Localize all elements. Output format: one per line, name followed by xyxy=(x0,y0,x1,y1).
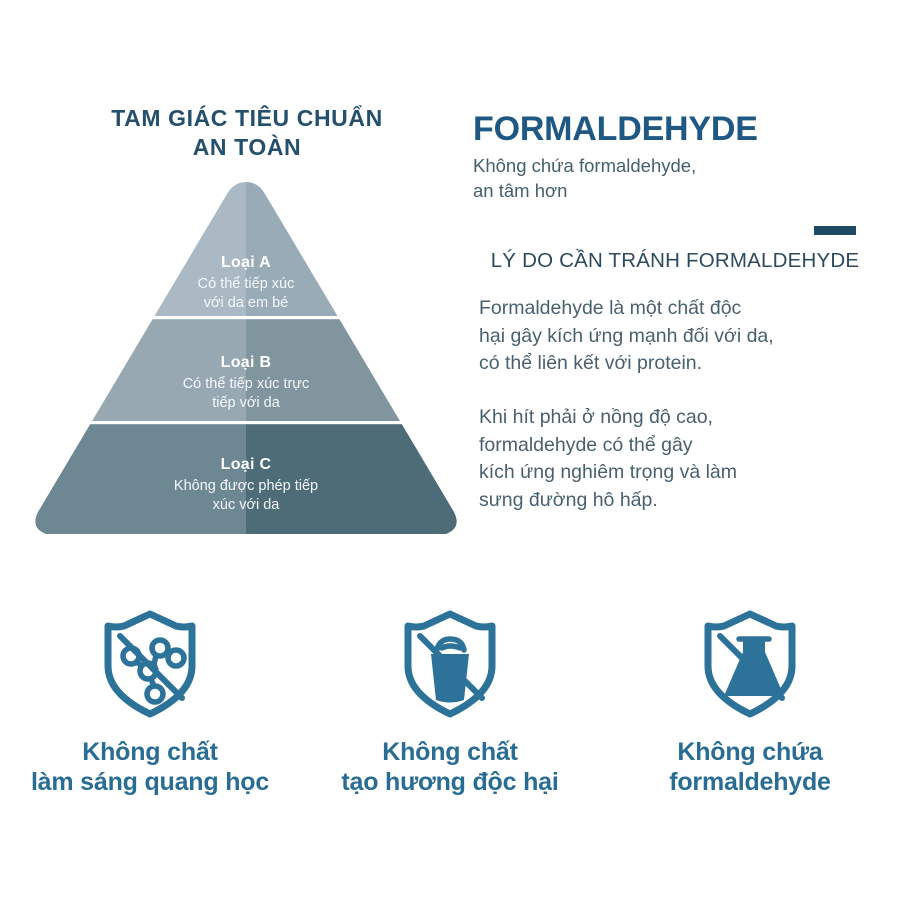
page-title: TAM GIÁC TIÊU CHUẨN AN TOÀN xyxy=(20,104,460,162)
reason-paragraph-1-line-3: có thể liên kết với protein. xyxy=(479,352,702,374)
reason-paragraph-2: Khi hít phải ở nồng độ cao, formaldehyde… xyxy=(473,404,883,515)
formaldehyde-info-panel: FORMALDEHYDE Không chứa formaldehyde, an… xyxy=(473,112,883,515)
reason-heading: LÝ DO CẦN TRÁNH FORMALDEHYDE xyxy=(473,249,883,273)
tier-c-left-face xyxy=(26,424,246,546)
page-title-line-2: AN TOÀN xyxy=(34,133,460,162)
reason-paragraph-2-line-1: Khi hít phải ở nồng độ cao, xyxy=(479,406,713,428)
feature-no-formaldehyde: Không chứa formaldehyde xyxy=(600,608,900,797)
tier-c-right-face xyxy=(246,424,466,546)
reason-paragraph-1-line-1: Formaldehyde là một chất độc xyxy=(479,297,741,319)
feature-2-label-line-1: Không chất xyxy=(341,738,558,768)
feature-1-label-line-2: làm sáng quang học xyxy=(31,768,269,798)
brand-subheading-line-2: an tâm hơn xyxy=(473,180,567,201)
feature-no-formaldehyde-label: Không chứa formaldehyde xyxy=(669,738,831,797)
shield-flask-slash-icon xyxy=(698,608,802,720)
pyramid-svg xyxy=(26,176,466,546)
safety-pyramid-panel: TAM GIÁC TIÊU CHUẨN AN TOÀN xyxy=(20,104,460,546)
reason-paragraph-2-line-2: formaldehyde có thể gây xyxy=(479,434,693,456)
pyramid-tiers xyxy=(26,176,466,546)
feature-no-optical-brightener: Không chất làm sáng quang học xyxy=(0,608,300,797)
feature-no-toxic-fragrance-label: Không chất tạo hương độc hại xyxy=(341,738,558,797)
feature-no-toxic-fragrance: Không chất tạo hương độc hại xyxy=(300,608,600,797)
brand-heading: FORMALDEHYDE xyxy=(473,112,883,146)
feature-3-label-line-2: formaldehyde xyxy=(669,768,831,798)
divider-row xyxy=(473,226,883,235)
reason-paragraph-2-line-4: sưng đường hô hấp. xyxy=(479,489,658,511)
feature-row: Không chất làm sáng quang học Không chất… xyxy=(0,608,900,848)
page-title-line-1: TAM GIÁC TIÊU CHUẨN xyxy=(34,104,460,133)
reason-paragraph-1: Formaldehyde là một chất độc hại gây kíc… xyxy=(473,295,883,378)
shield-bucket-slash-icon xyxy=(398,608,502,720)
tier-divider-ab xyxy=(26,316,466,319)
brand-subheading: Không chứa formaldehyde, an tâm hơn xyxy=(473,154,883,204)
feature-1-label-line-1: Không chất xyxy=(31,738,269,768)
brand-subheading-line-1: Không chứa formaldehyde, xyxy=(473,155,696,176)
pyramid-diagram: Loại A Có thể tiếp xúc với da em bé Loại… xyxy=(26,176,466,546)
reason-paragraph-2-line-3: kích ứng nghiêm trọng và làm xyxy=(479,461,737,483)
upper-section: TAM GIÁC TIÊU CHUẨN AN TOÀN xyxy=(0,0,900,600)
shield-molecule-slash-icon xyxy=(98,608,202,720)
feature-3-label-line-1: Không chứa xyxy=(669,738,831,768)
divider-dash xyxy=(814,226,856,235)
feature-2-label-line-2: tạo hương độc hại xyxy=(341,768,558,798)
feature-no-optical-brightener-label: Không chất làm sáng quang học xyxy=(31,738,269,797)
tier-a-right-face xyxy=(246,176,466,316)
tier-b-left-face xyxy=(26,319,246,421)
tier-divider-bc xyxy=(26,421,466,424)
tier-a-left-face xyxy=(26,176,246,316)
tier-b-right-face xyxy=(246,319,466,421)
reason-paragraph-1-line-2: hại gây kích ứng mạnh đối với da, xyxy=(479,325,774,347)
